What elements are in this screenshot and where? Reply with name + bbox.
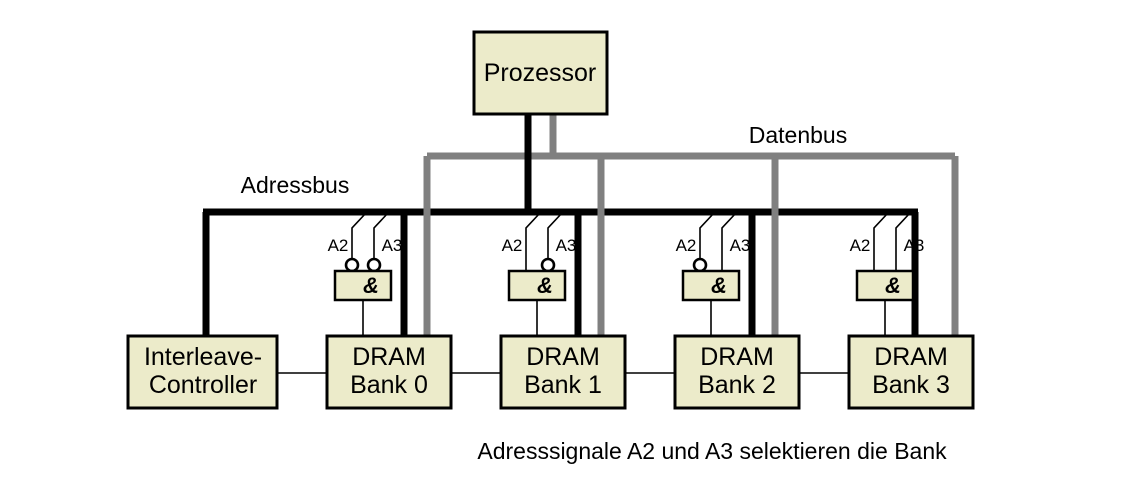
signal-label-a2-bank-1: A2 [502, 236, 523, 255]
dram-bank-0-block[interactable]: DRAM Bank 0 [327, 336, 451, 408]
dram-bank-0-label-line2: Bank 0 [350, 371, 428, 399]
switch-lever-a2-bank-3[interactable] [874, 213, 888, 271]
and-gate-symbol-bank-3: & [885, 273, 901, 298]
interleaving-diagram: Adressbus Datenbus Prozessor A2 A3 & A2 … [0, 0, 1146, 500]
dram-bank-3-block[interactable]: DRAM Bank 3 [849, 336, 973, 408]
data-bus-label: Datenbus [749, 122, 847, 148]
interleave-controller-block[interactable]: Interleave- Controller [128, 336, 277, 408]
diagram-canvas: Adressbus Datenbus Prozessor A2 A3 & A2 … [0, 0, 1146, 500]
and-gate-symbol-bank-1: & [537, 273, 553, 298]
inverter-bubble-a3-bank-1 [542, 259, 554, 271]
switch-lever-a2-bank-1[interactable] [526, 213, 540, 271]
dram-bank-3-label-line2: Bank 3 [872, 371, 950, 399]
inverter-bubble-a3-bank-0 [368, 259, 380, 271]
and-gate-symbol-bank-2: & [711, 273, 727, 298]
dram-bank-1-label-line1: DRAM [526, 343, 600, 371]
diagram-caption: Adresssignale A2 und A3 selektieren die … [477, 438, 947, 464]
switch-lever-a2-bank-0[interactable] [352, 213, 366, 262]
bank-selector-1[interactable]: A2 A3 & [502, 213, 577, 340]
dram-bank-2-block[interactable]: DRAM Bank 2 [675, 336, 799, 408]
and-gate-symbol-bank-0: & [363, 273, 379, 298]
inverter-bubble-a2-bank-2 [694, 259, 706, 271]
switch-lever-a2-bank-2[interactable] [700, 213, 714, 262]
dram-bank-1-label-line2: Bank 1 [524, 371, 602, 399]
dram-bank-1-block[interactable]: DRAM Bank 1 [501, 336, 625, 408]
signal-label-a2-bank-3: A2 [850, 236, 871, 255]
signal-label-a2-bank-2: A2 [676, 236, 697, 255]
signal-label-a3-bank-2: A3 [730, 236, 751, 255]
signal-label-a3-bank-1: A3 [556, 236, 577, 255]
processor-block[interactable]: Prozessor [474, 32, 607, 114]
dram-bank-2-label-line2: Bank 2 [698, 371, 776, 399]
inverter-bubble-a2-bank-0 [346, 259, 358, 271]
interleave-controller-label-line1: Interleave- [144, 343, 262, 371]
bank-selector-0[interactable]: A2 A3 & [328, 213, 403, 340]
dram-bank-3-label-line1: DRAM [874, 343, 948, 371]
signal-label-a2-bank-0: A2 [328, 236, 349, 255]
signal-label-a3-bank-0: A3 [382, 236, 403, 255]
dram-bank-0-label-line1: DRAM [352, 343, 426, 371]
address-bus-label: Adressbus [241, 172, 350, 198]
bank-selector-2[interactable]: A2 A3 & [676, 213, 751, 340]
interleave-controller-label-line2: Controller [149, 371, 257, 399]
signal-label-a3-bank-3: A3 [904, 236, 925, 255]
processor-label: Prozessor [484, 59, 597, 87]
dram-bank-2-label-line1: DRAM [700, 343, 774, 371]
